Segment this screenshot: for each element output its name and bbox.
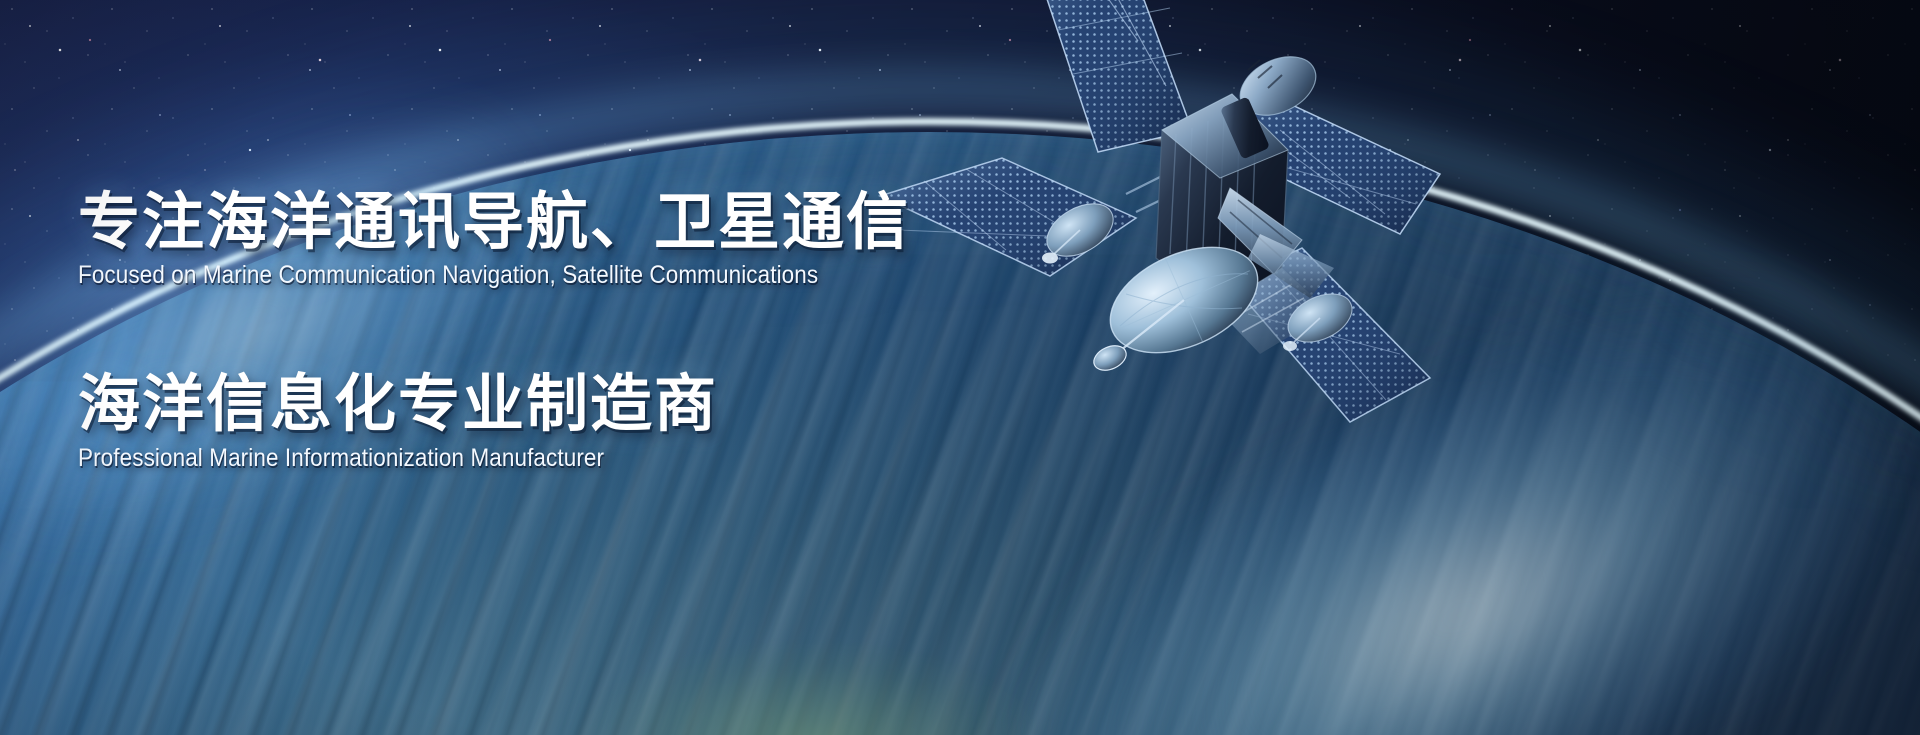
message-secondary: 海洋信息化专业制造商 Professional Marine Informati… bbox=[78, 372, 1178, 472]
headline-primary: 专注海洋通讯导航、卫星通信 bbox=[78, 190, 1178, 254]
message-primary: 专注海洋通讯导航、卫星通信 Focused on Marine Communic… bbox=[78, 190, 1178, 290]
subline-primary: Focused on Marine Communication Navigati… bbox=[78, 260, 1068, 290]
hero-banner: 专注海洋通讯导航、卫星通信 Focused on Marine Communic… bbox=[0, 0, 1920, 735]
headline-secondary: 海洋信息化专业制造商 bbox=[78, 372, 1178, 436]
subline-secondary: Professional Marine Informationization M… bbox=[78, 443, 1068, 473]
banner-copy: 专注海洋通讯导航、卫星通信 Focused on Marine Communic… bbox=[78, 190, 1178, 473]
